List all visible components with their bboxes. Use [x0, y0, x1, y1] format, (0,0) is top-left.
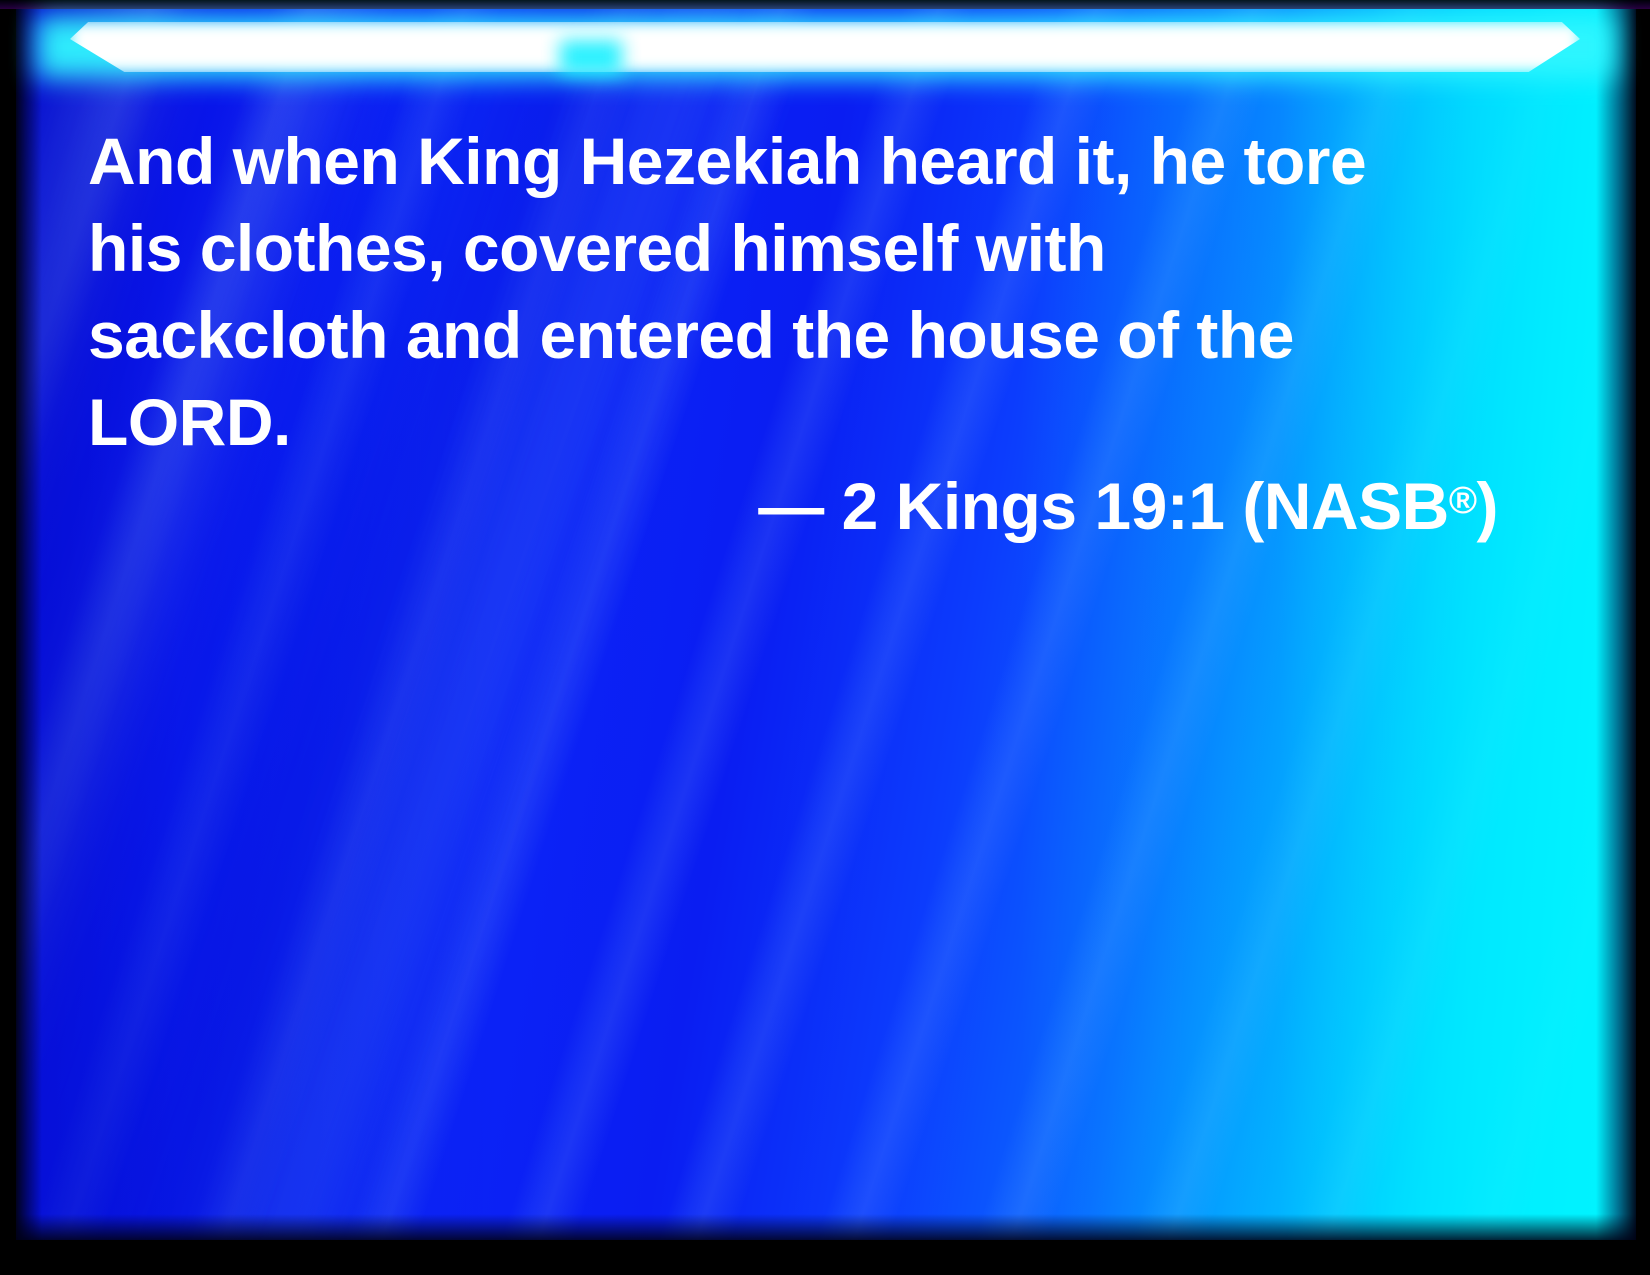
verse-line-1: And when King Hezekiah heard it, he tore — [88, 118, 1508, 205]
attribution-translation: NASB — [1264, 469, 1449, 543]
registered-trademark-icon: ® — [1449, 479, 1477, 522]
verse-text-block: And when King Hezekiah heard it, he tore… — [88, 118, 1508, 466]
verse-slide: And when King Hezekiah heard it, he tore… — [0, 0, 1650, 1275]
verse-line-2: his clothes, covered himself with — [88, 205, 1508, 292]
right-edge-vignette — [1596, 8, 1636, 1240]
bottom-edge-vignette — [16, 1214, 1636, 1240]
left-edge-vignette — [16, 8, 42, 1240]
verse-line-4: LORD. — [88, 379, 1508, 466]
attribution-close-paren: ) — [1477, 469, 1498, 543]
attribution-dash: — — [758, 469, 824, 543]
attribution-open-paren: ( — [1242, 469, 1263, 543]
verse-attribution: — 2 Kings 19:1 (NASB®) — [88, 460, 1498, 547]
verse-line-3: sackcloth and entered the house of the — [88, 292, 1508, 379]
attribution-reference: 2 Kings 19:1 — [842, 469, 1225, 543]
